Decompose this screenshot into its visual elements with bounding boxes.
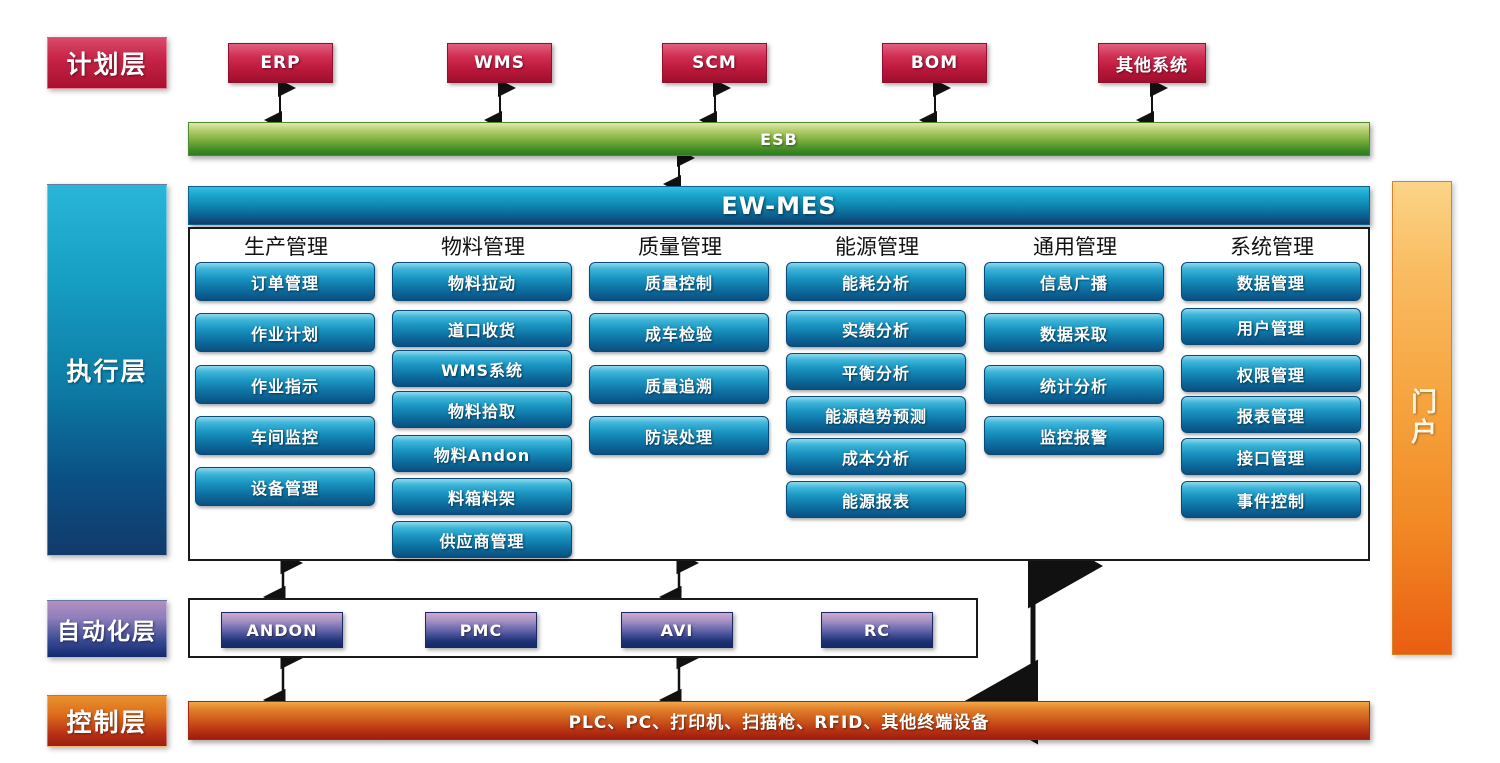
arrow-exec-automation — [283, 563, 679, 597]
planning-system-erp[interactable]: ERP — [228, 43, 333, 83]
automation-system-avi[interactable]: AVI — [621, 612, 733, 648]
module-item-vehicle-inspection[interactable]: 成车检验 — [589, 313, 769, 352]
module-item-gate-receiving[interactable]: 道口收货 — [392, 310, 572, 347]
module-item-data-management[interactable]: 数据管理 — [1181, 262, 1361, 301]
module-item-wms-system[interactable]: WMS系统 — [392, 350, 572, 387]
module-item-event-control[interactable]: 事件控制 — [1181, 481, 1361, 518]
module-column-title-general: 通用管理 — [984, 231, 1166, 261]
planning-system-wms[interactable]: WMS — [447, 43, 552, 83]
module-item-user-management[interactable]: 用户管理 — [1181, 308, 1361, 345]
module-column-title-system: 系统管理 — [1181, 231, 1363, 261]
planning-system-scm[interactable]: SCM — [662, 43, 767, 83]
arrow-automation-control — [283, 658, 679, 700]
layer-tag-automation: 自动化层 — [47, 600, 167, 658]
mes-bar: EW-MES — [188, 186, 1370, 225]
automation-system-rc[interactable]: RC — [821, 612, 933, 648]
control-layer-bar: PLC、PC、打印机、扫描枪、RFID、其他终端设备 — [188, 701, 1370, 740]
module-column-title-energy: 能源管理 — [786, 231, 968, 261]
module-item-error-proofing[interactable]: 防误处理 — [589, 416, 769, 455]
arrow-plan-esb — [280, 88, 1152, 120]
module-column-title-production: 生产管理 — [195, 231, 377, 261]
module-item-quality-control[interactable]: 质量控制 — [589, 262, 769, 301]
automation-system-pmc[interactable]: PMC — [425, 612, 537, 648]
module-item-material-pull[interactable]: 物料拉动 — [392, 262, 572, 301]
module-item-quality-traceability[interactable]: 质量追溯 — [589, 365, 769, 404]
portal-bar[interactable]: 门户 — [1392, 181, 1452, 655]
layer-tag-control: 控制层 — [47, 695, 167, 747]
module-item-energy-consumption-analysis[interactable]: 能耗分析 — [786, 262, 966, 301]
module-item-balance-analysis[interactable]: 平衡分析 — [786, 353, 966, 390]
automation-system-andon[interactable]: ANDON — [221, 612, 343, 648]
module-item-permission-management[interactable]: 权限管理 — [1181, 355, 1361, 392]
module-item-performance-analysis[interactable]: 实绩分析 — [786, 310, 966, 347]
module-item-material-andon[interactable]: 物料Andon — [392, 435, 572, 472]
layer-tag-planning: 计划层 — [47, 37, 167, 89]
module-item-report-management[interactable]: 报表管理 — [1181, 396, 1361, 433]
module-item-equipment-management[interactable]: 设备管理 — [195, 467, 375, 506]
module-column-title-material: 物料管理 — [392, 231, 574, 261]
module-item-energy-trend-forecast[interactable]: 能源趋势预测 — [786, 396, 966, 433]
module-item-material-picking[interactable]: 物料拾取 — [392, 391, 572, 428]
module-column-title-quality: 质量管理 — [589, 231, 771, 261]
module-item-info-broadcast[interactable]: 信息广播 — [984, 262, 1164, 301]
module-item-monitoring-alarm[interactable]: 监控报警 — [984, 416, 1164, 455]
layer-tag-execution: 执行层 — [47, 184, 167, 556]
module-item-job-plan[interactable]: 作业计划 — [195, 313, 375, 352]
module-item-bins-racks[interactable]: 料箱料架 — [392, 478, 572, 515]
planning-system-bom[interactable]: BOM — [882, 43, 987, 83]
module-item-workshop-monitor[interactable]: 车间监控 — [195, 416, 375, 455]
module-item-order-management[interactable]: 订单管理 — [195, 262, 375, 301]
module-item-supplier-management[interactable]: 供应商管理 — [392, 521, 572, 558]
module-item-interface-management[interactable]: 接口管理 — [1181, 438, 1361, 475]
module-item-cost-analysis[interactable]: 成本分析 — [786, 438, 966, 475]
esb-bar: ESB — [188, 122, 1370, 156]
module-item-energy-report[interactable]: 能源报表 — [786, 481, 966, 518]
architecture-diagram: 计划层 执行层 自动化层 控制层 ERP WMS SCM BOM 其他系统 ES… — [0, 0, 1500, 763]
module-item-job-instruction[interactable]: 作业指示 — [195, 365, 375, 404]
module-item-data-acquisition[interactable]: 数据采取 — [984, 313, 1164, 352]
planning-system-other[interactable]: 其他系统 — [1098, 43, 1206, 83]
module-item-statistical-analysis[interactable]: 统计分析 — [984, 365, 1164, 404]
